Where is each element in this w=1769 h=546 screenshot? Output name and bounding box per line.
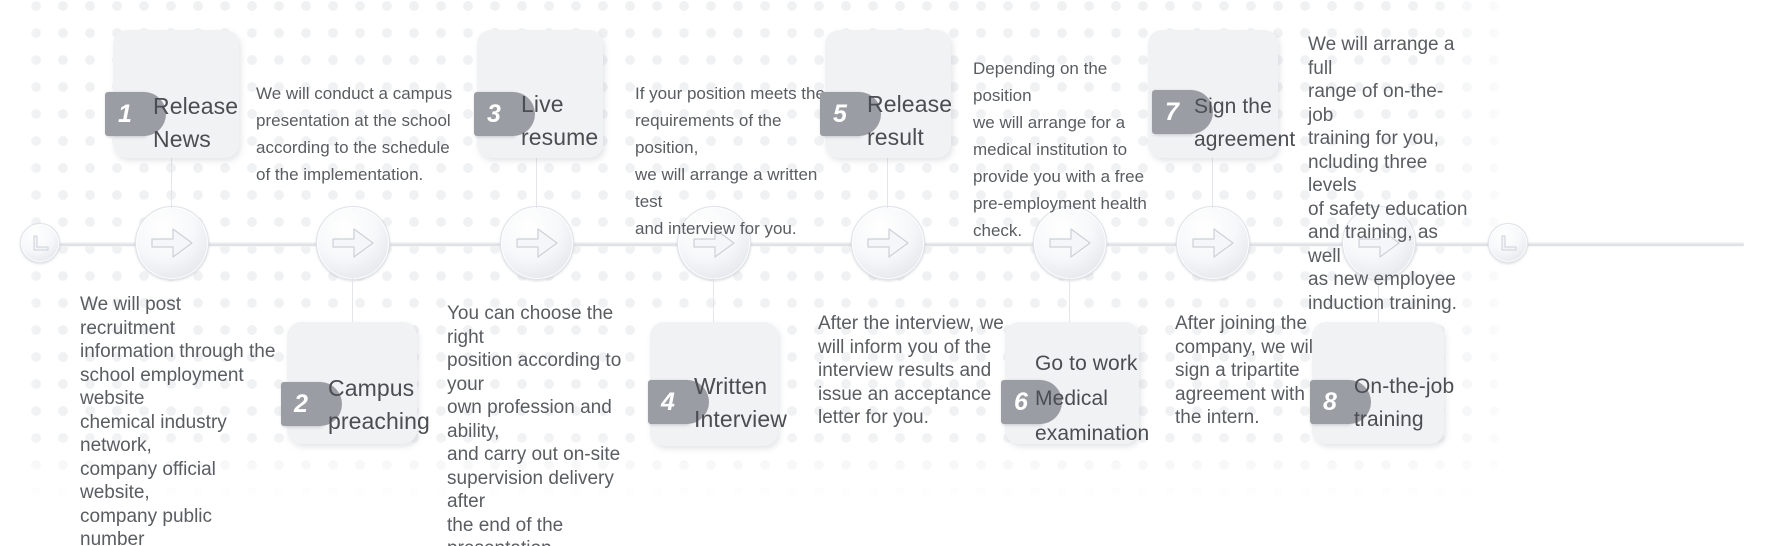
step-description-2: We will conduct a campus presentation at… — [256, 80, 456, 188]
step-number-2: 2 — [294, 390, 308, 419]
timeline-node-3[interactable] — [500, 206, 574, 280]
timeline-node-7[interactable] — [1176, 206, 1250, 280]
step-number-badge-8: 8 — [1310, 380, 1350, 424]
step-card-2[interactable]: 2 Campus preaching — [287, 322, 417, 444]
step-number-6: 6 — [1014, 388, 1028, 417]
right-arrow-icon — [514, 223, 560, 263]
step-card-5[interactable]: 5 Release result — [825, 30, 951, 158]
stem-2 — [352, 278, 353, 323]
stem-7 — [1212, 158, 1213, 208]
step-number-badge-1: 1 — [105, 92, 145, 136]
step-number-1: 1 — [118, 100, 132, 129]
step-number-3: 3 — [487, 100, 501, 129]
step-number-7: 7 — [1165, 98, 1179, 127]
step-description-3: You can choose the right position accord… — [447, 302, 647, 546]
corner-arrow-icon — [1497, 232, 1519, 254]
timeline-node-1[interactable] — [135, 206, 209, 280]
step-description-1: We will post recruitment information thr… — [80, 293, 280, 546]
right-arrow-icon — [1190, 223, 1236, 263]
right-arrow-icon — [330, 223, 376, 263]
step-number-4: 4 — [661, 388, 675, 417]
step-title-1: Release News — [153, 90, 253, 156]
timeline-start-cap — [20, 223, 60, 263]
step-description-8: We will arrange a full range of on-the-j… — [1308, 33, 1468, 315]
step-number-badge-5: 5 — [820, 92, 860, 136]
stem-1 — [171, 158, 172, 208]
stem-3 — [536, 158, 537, 208]
step-description-6: Depending on the position we will arrang… — [973, 55, 1158, 244]
step-card-6[interactable]: 6 Go to work Medical examination — [1005, 322, 1139, 444]
step-description-4: If your position meets the requirements … — [635, 80, 845, 242]
step-card-8[interactable]: 8 On-the-job training — [1312, 322, 1444, 444]
step-title-6: Go to work Medical examination — [1035, 346, 1165, 451]
stem-5 — [887, 158, 888, 208]
step-title-4: Written Interview — [694, 370, 804, 436]
right-arrow-icon — [149, 223, 195, 263]
timeline-node-5[interactable] — [851, 206, 925, 280]
step-title-3: Live resume — [521, 88, 626, 154]
step-title-5: Release result — [867, 88, 972, 154]
step-number-badge-7: 7 — [1152, 90, 1192, 134]
stem-4 — [713, 278, 714, 323]
step-number-badge-3: 3 — [474, 92, 514, 136]
step-card-1[interactable]: 1 Release News — [113, 30, 239, 158]
right-arrow-icon — [865, 223, 911, 263]
step-number-badge-4: 4 — [648, 380, 688, 424]
corner-arrow-icon — [29, 232, 51, 254]
step-number-5: 5 — [833, 100, 847, 129]
step-card-4[interactable]: 4 Written Interview — [650, 322, 778, 446]
step-number-badge-2: 2 — [281, 382, 321, 426]
timeline-diagram: 1 Release News We will conduct a campus … — [0, 0, 1769, 546]
timeline-node-2[interactable] — [316, 206, 390, 280]
step-description-7: After joining the company, we will sign … — [1175, 312, 1325, 430]
step-number-8: 8 — [1323, 388, 1337, 417]
step-description-5: After the interview, we will inform you … — [818, 312, 1008, 430]
step-card-7[interactable]: 7 Sign the agreement — [1148, 30, 1278, 158]
step-title-2: Campus preaching — [328, 372, 438, 438]
step-title-8: On-the-job training — [1354, 370, 1484, 436]
stem-6 — [1069, 278, 1070, 323]
timeline-end-cap — [1488, 223, 1528, 263]
step-card-3[interactable]: 3 Live resume — [477, 30, 603, 158]
